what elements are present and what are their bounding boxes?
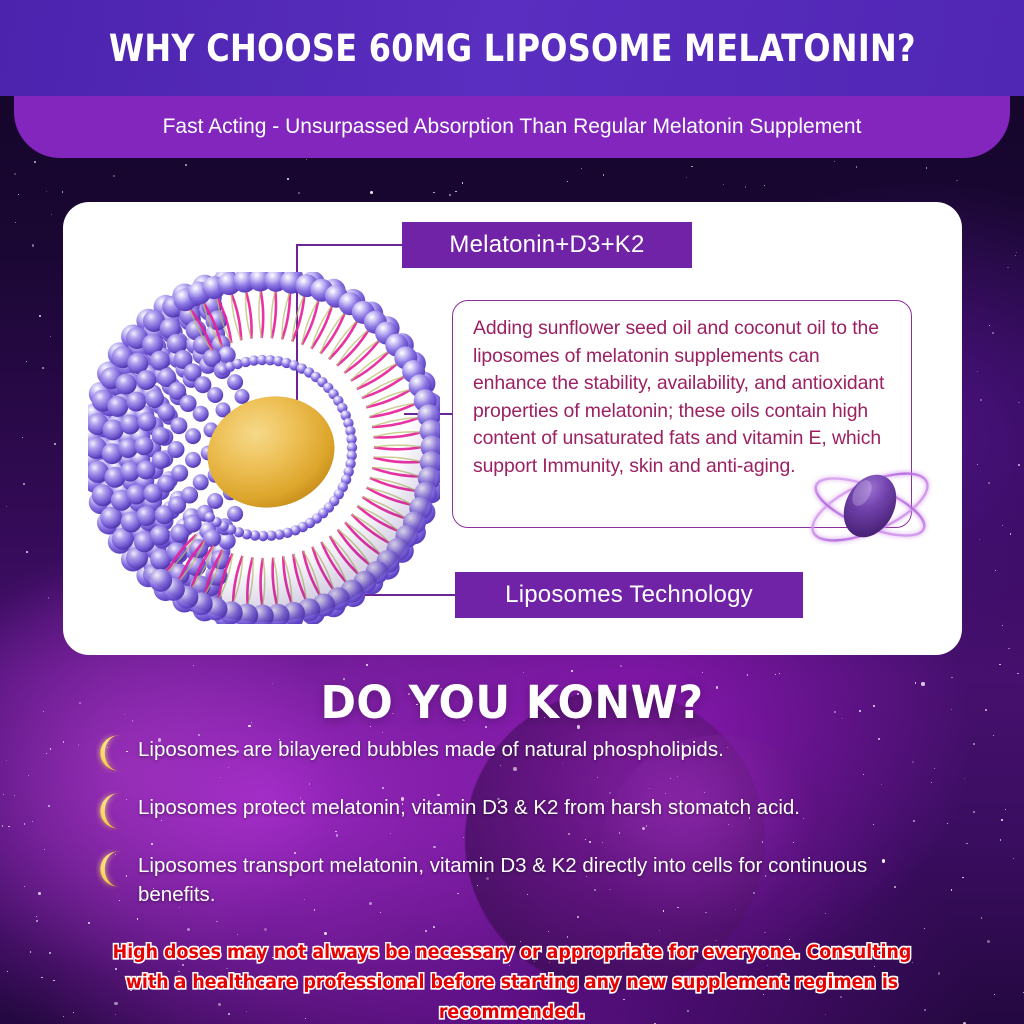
page-subtitle: Fast Acting - Unsurpassed Absorption Tha… bbox=[163, 115, 862, 139]
label-melatonin-d3-k2-text: Melatonin+D3+K2 bbox=[449, 231, 644, 259]
benefit-item-text: Liposomes protect melatonin, vitamin D3 … bbox=[134, 793, 800, 822]
crescent-moon-icon bbox=[96, 849, 134, 889]
header-title-bar: WHY CHOOSE 60MG LIPOSOME MELATONIN? bbox=[0, 0, 1024, 96]
disclaimer-line-2: with a healthcare professional before st… bbox=[57, 968, 967, 1024]
crescent-moon-icon bbox=[96, 733, 134, 773]
benefit-item: Liposomes protect melatonin, vitamin D3 … bbox=[96, 793, 996, 831]
label-liposomes-technology: Liposomes Technology bbox=[455, 572, 803, 618]
infographic-stage: WHY CHOOSE 60MG LIPOSOME MELATONIN? Fast… bbox=[0, 0, 1024, 1024]
connector-line-top-horizontal bbox=[296, 244, 404, 246]
disclaimer-line-1: High doses may not always be necessary o… bbox=[57, 938, 967, 968]
benefits-list: Liposomes are bilayered bubbles made of … bbox=[96, 735, 996, 929]
label-liposomes-technology-text: Liposomes Technology bbox=[505, 581, 753, 609]
page-title: WHY CHOOSE 60MG LIPOSOME MELATONIN? bbox=[108, 27, 915, 70]
liposome-cross-section-illustration bbox=[88, 272, 440, 624]
header-subtitle-bar: Fast Acting - Unsurpassed Absorption Tha… bbox=[14, 96, 1010, 158]
label-melatonin-d3-k2: Melatonin+D3+K2 bbox=[402, 222, 692, 268]
benefit-item: Liposomes transport melatonin, vitamin D… bbox=[96, 851, 996, 909]
benefit-item: Liposomes are bilayered bubbles made of … bbox=[96, 735, 996, 773]
crescent-moon-icon bbox=[96, 849, 134, 889]
know-heading: DO YOU KONW? bbox=[26, 676, 999, 729]
crescent-moon-icon bbox=[96, 791, 134, 831]
crescent-moon-icon bbox=[96, 791, 134, 831]
softgel-capsule-orbit-icon bbox=[795, 448, 945, 566]
benefit-item-text: Liposomes are bilayered bubbles made of … bbox=[134, 735, 724, 764]
know-section-header: DO YOU KONW? bbox=[0, 676, 1024, 729]
crescent-moon-icon bbox=[96, 733, 134, 773]
footer-disclaimer: High doses may not always be necessary o… bbox=[0, 938, 1024, 1024]
benefit-item-text: Liposomes transport melatonin, vitamin D… bbox=[134, 851, 924, 909]
